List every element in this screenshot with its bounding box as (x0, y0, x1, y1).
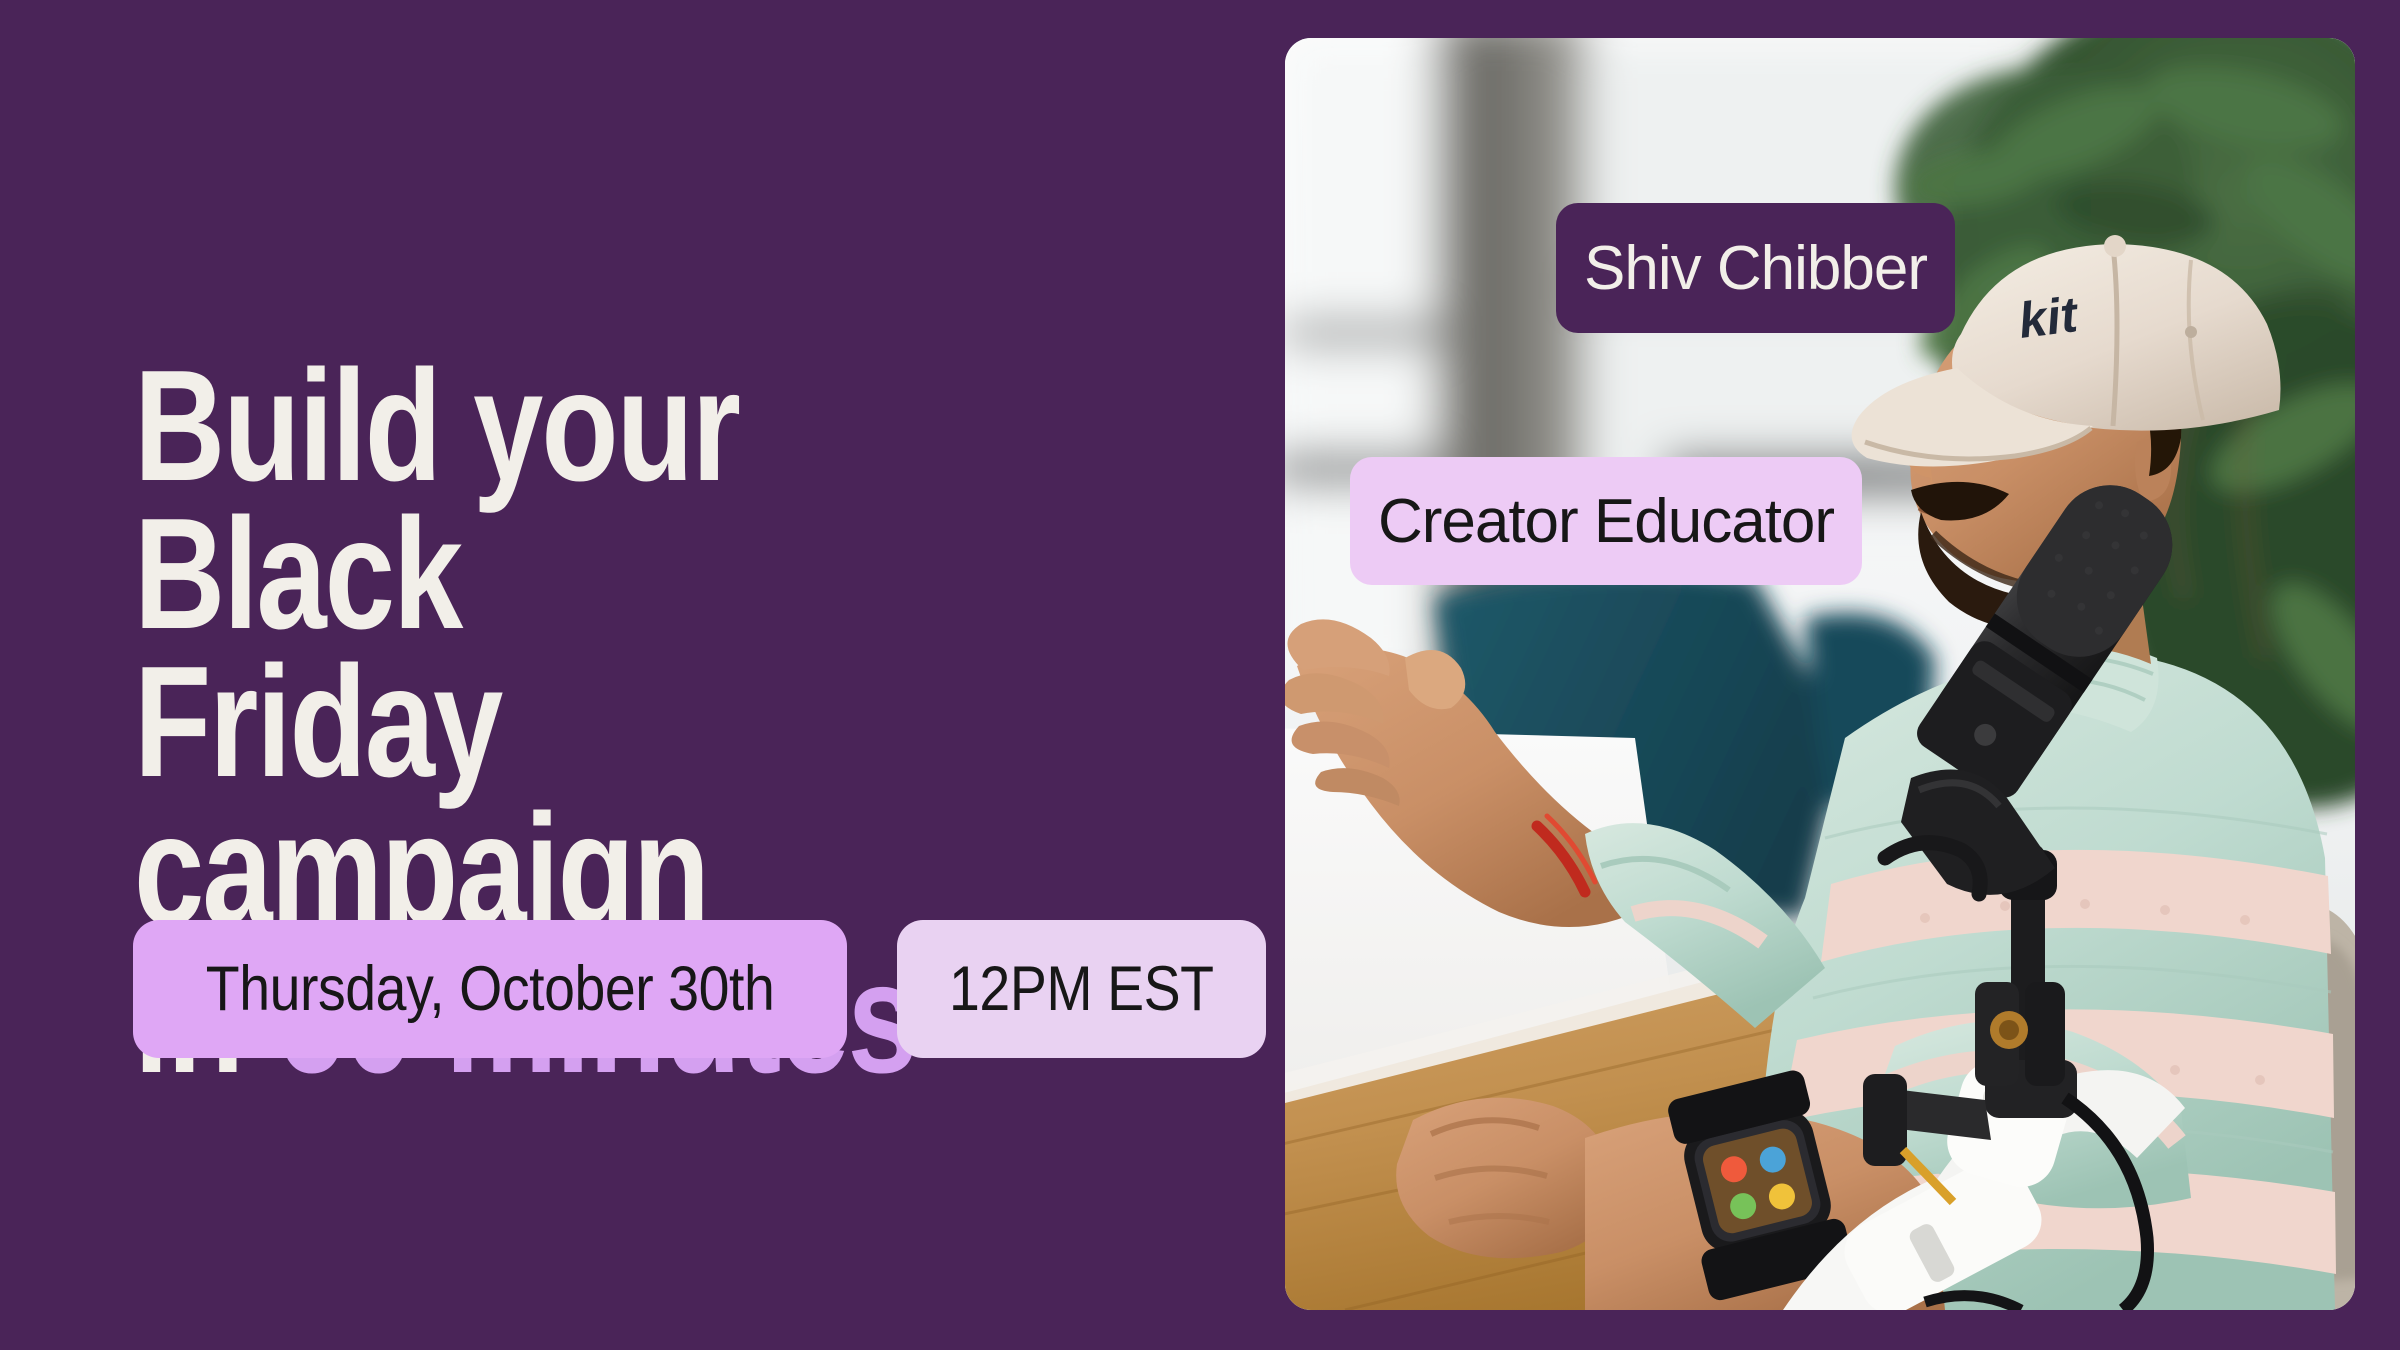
speaker-name-pill: Shiv Chibber (1556, 203, 1955, 333)
cap-logo-text: kit (2016, 286, 2083, 349)
status-badge-date: Thursday, October 30th (133, 920, 847, 1058)
speaker-role-label: Creator Educator (1378, 486, 1834, 557)
headline-line-1: Build your Black (134, 338, 739, 662)
badge-date-label: Thursday, October 30th (206, 953, 775, 1025)
badge-time-label: 12PM EST (949, 953, 1214, 1025)
headline-line-2: Friday campaign (134, 634, 708, 958)
speaker-name-label: Shiv Chibber (1584, 233, 1927, 304)
speaker-role-pill: Creator Educator (1350, 457, 1862, 585)
event-meta-badges: Thursday, October 30th 12PM EST (133, 920, 1266, 1058)
webinar-promo-banner: Build your Black Friday campaign in 60 m… (0, 0, 2400, 1350)
status-badge-time: 12PM EST (897, 920, 1266, 1058)
